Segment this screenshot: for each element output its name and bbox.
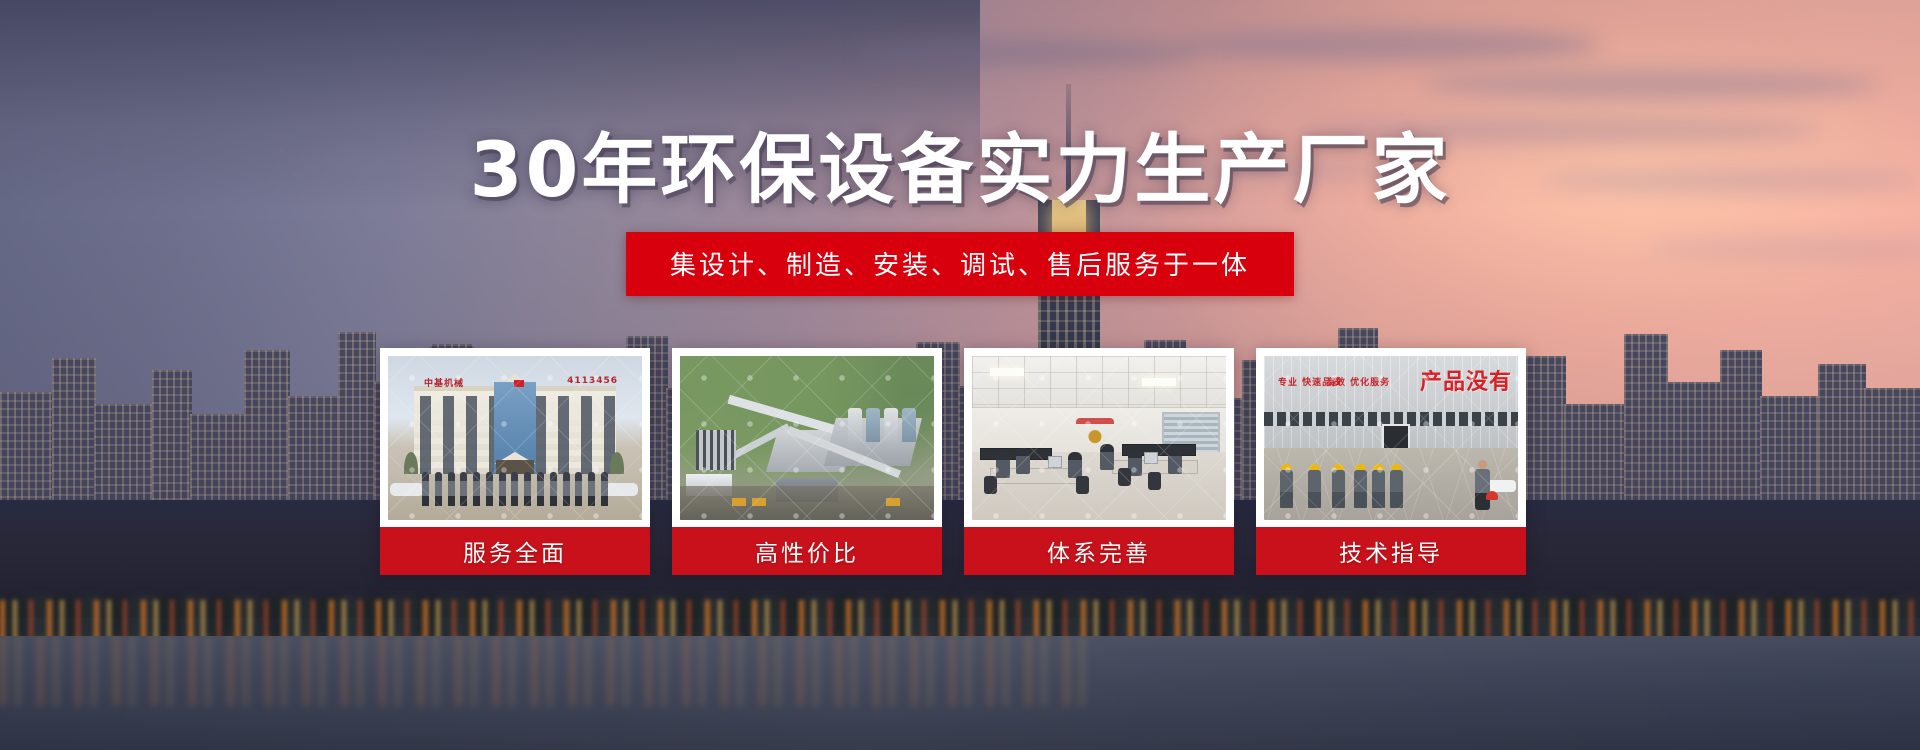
company-office-building-photo: 中基机械 4113456 [388,356,642,520]
feature-card[interactable]: 中基机械 4113456 服务全面 [380,348,650,575]
flag-icon [514,380,524,387]
banner-subtitle: 集设计、制造、安装、调试、售后服务于一体 [626,232,1294,296]
red-helmet-icon [1486,491,1498,500]
factory-banner-text: 产品没有 [1420,364,1512,396]
supervisor-figure [1475,460,1490,510]
building-sign-text: 中基机械 [424,376,464,389]
factory-slogan-mid: 高效 优化服务 [1326,378,1390,389]
feature-card[interactable]: 高性价比 [672,348,942,575]
feature-card-label: 体系完善 [964,527,1234,575]
feature-card[interactable]: 体系完善 [964,348,1234,575]
feature-card-label: 高性价比 [672,527,942,575]
banner-subtitle-wrapper: 集设计、制造、安装、调试、售后服务于一体 [0,232,1920,296]
staff-row [422,472,608,506]
building-phone-text: 4113456 [567,376,618,386]
factory-yard-workers-photo: 专业 快速品质 高效 优化服务 产品没有 [1264,356,1518,520]
feature-card-label: 服务全面 [380,527,650,575]
aerial-industrial-plant-photo [680,356,934,520]
banner-content: 30年环保设备实力生产厂家 集设计、制造、安装、调试、售后服务于一体 中基机械 … [0,0,1920,750]
hero-banner: 30年环保设备实力生产厂家 集设计、制造、安装、调试、售后服务于一体 中基机械 … [0,0,1920,750]
feature-card-label: 技术指导 [1256,527,1526,575]
feature-card-list: 中基机械 4113456 服务全面 [380,348,1526,575]
office-interior-staff-photo [972,356,1226,520]
banner-headline: 30年环保设备实力生产厂家 [0,108,1920,218]
feature-card[interactable]: 专业 快速品质 高效 优化服务 产品没有 [1256,348,1526,575]
